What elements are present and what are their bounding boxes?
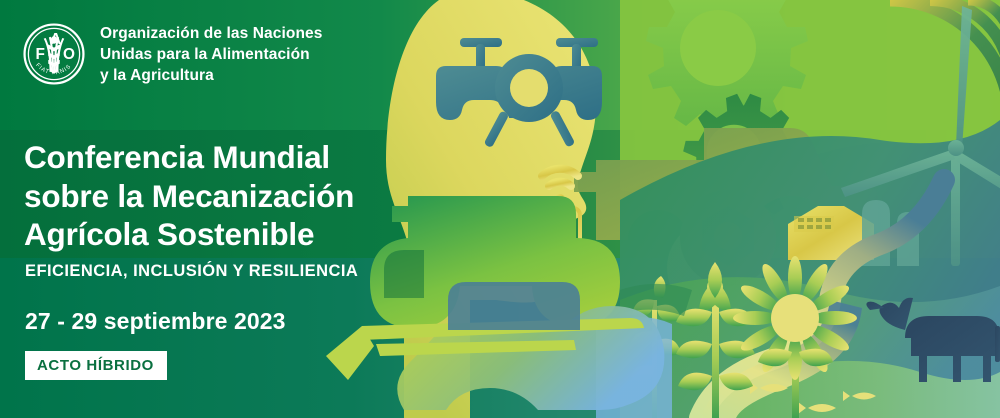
svg-text:O: O xyxy=(63,46,75,63)
harvester-tube xyxy=(448,282,580,330)
status-badge: ACTO HÍBRIDO xyxy=(25,351,167,380)
svg-text:A: A xyxy=(50,31,61,48)
page-subtitle: EFICIENCIA, INCLUSIÓN Y RESILIENCIA xyxy=(25,262,358,281)
event-dates: 27 - 29 septiembre 2023 xyxy=(25,308,286,335)
fao-emblem-icon: F A O FIAT PANIS xyxy=(22,22,86,86)
organization-name: Organización de las Naciones Unidas para… xyxy=(100,23,322,87)
fao-logo-block[interactable]: F A O FIAT PANIS Organización de las Nac… xyxy=(22,22,322,87)
svg-text:F: F xyxy=(35,46,44,63)
fao-conference-banner: F A O FIAT PANIS Organización de las Nac… xyxy=(0,0,1000,418)
shadow-blob xyxy=(384,250,424,298)
page-title: Conferencia Mundial sobre la Mecanizació… xyxy=(24,138,404,254)
